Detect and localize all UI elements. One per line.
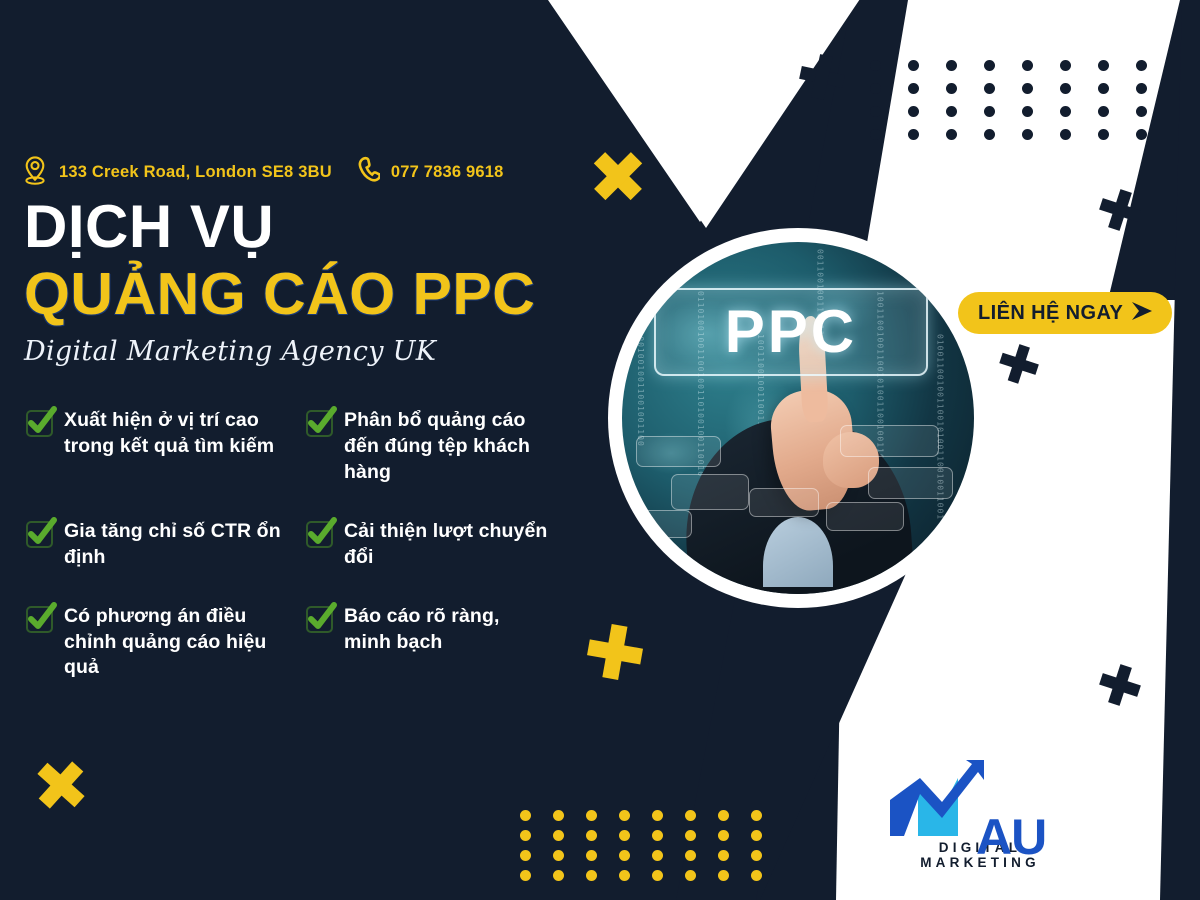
- chevron-right-icon: [1130, 300, 1156, 327]
- glass-panel: [629, 510, 692, 538]
- benefit-item-ctr-growth: Gia tăng chỉ số CTR ổn định: [26, 519, 284, 571]
- benefit-item-ad-optimization: Có phương án điều chỉnh quảng cáo hiệu q…: [26, 604, 284, 682]
- title-line-2: QUẢNG CÁO PPC: [24, 263, 535, 326]
- benefit-item-reporting: Báo cáo rõ ràng, minh bạch: [306, 604, 551, 682]
- check-icon: [306, 606, 333, 633]
- benefit-label: Xuất hiện ở vị trí cao trong kết quả tìm…: [64, 408, 284, 460]
- benefit-label: Gia tăng chỉ số CTR ổn định: [64, 519, 284, 571]
- address-item: 133 Creek Road, London SE8 3BU: [22, 155, 332, 190]
- phone-icon: [358, 156, 380, 189]
- cta-label: LIÊN HỆ NGAY: [978, 302, 1123, 325]
- benefits-list: Xuất hiện ở vị trí cao trong kết quả tìm…: [26, 408, 571, 714]
- headline-block: DỊCH VỤ QUẢNG CÁO PPC Digital Marketing …: [24, 196, 535, 367]
- check-icon: [306, 521, 333, 548]
- glass-panel: [749, 488, 819, 516]
- ppc-plaque: PPC: [654, 288, 929, 376]
- yellow-dot-grid-bottom: [520, 810, 784, 890]
- glass-panel: [636, 436, 720, 468]
- benefit-item-rank-high: Xuất hiện ở vị trí cao trong kết quả tìm…: [26, 408, 284, 486]
- glass-panel: [671, 474, 748, 509]
- contact-cta-button[interactable]: LIÊN HỆ NGAY: [958, 292, 1172, 334]
- benefit-label: Có phương án điều chỉnh quảng cáo hiệu q…: [64, 604, 284, 682]
- benefit-item-target-audience: Phân bổ quảng cáo đến đúng tệp khách hàn…: [306, 408, 551, 486]
- benefit-label: Phân bổ quảng cáo đến đúng tệp khách hàn…: [344, 408, 551, 486]
- navy-cross-top-icon: [796, 51, 848, 103]
- check-icon: [26, 606, 53, 633]
- benefit-label: Cải thiện lượt chuyển đổi: [344, 519, 551, 571]
- glass-panel: [868, 467, 952, 499]
- phone-text: 077 7836 9618: [391, 163, 504, 182]
- contact-row: 133 Creek Road, London SE8 3BU 077 7836 …: [22, 155, 504, 190]
- yellow-cross-center-icon: [584, 621, 647, 684]
- benefit-item-conversions: Cải thiện lượt chuyển đổi: [306, 519, 551, 571]
- ppc-photo: 1001001100100110010010011001001100011010…: [622, 242, 974, 594]
- benefit-label: Báo cáo rõ ràng, minh bạch: [344, 604, 551, 656]
- check-icon: [26, 521, 53, 548]
- check-icon: [26, 410, 53, 437]
- poster-canvas: 133 Creek Road, London SE8 3BU 077 7836 …: [0, 0, 1200, 900]
- ppc-label: PPC: [725, 297, 857, 366]
- glass-panel: [840, 425, 939, 457]
- title-line-1: DỊCH VỤ: [24, 196, 535, 257]
- location-pin-icon: [22, 155, 48, 190]
- check-icon: [306, 410, 333, 437]
- glass-panel: [826, 502, 903, 530]
- photo-ring: 1001001100100110010010011001001100011010…: [608, 228, 988, 608]
- subtitle: Digital Marketing Agency UK: [24, 336, 535, 367]
- navy-dot-grid-top: [870, 60, 1174, 152]
- address-text: 133 Creek Road, London SE8 3BU: [59, 163, 332, 182]
- logo-wordmark: AU: [976, 808, 1046, 866]
- phone-item: 077 7836 9618: [358, 156, 504, 189]
- brand-logo: AU DIGITAL MARKETING: [880, 760, 1080, 870]
